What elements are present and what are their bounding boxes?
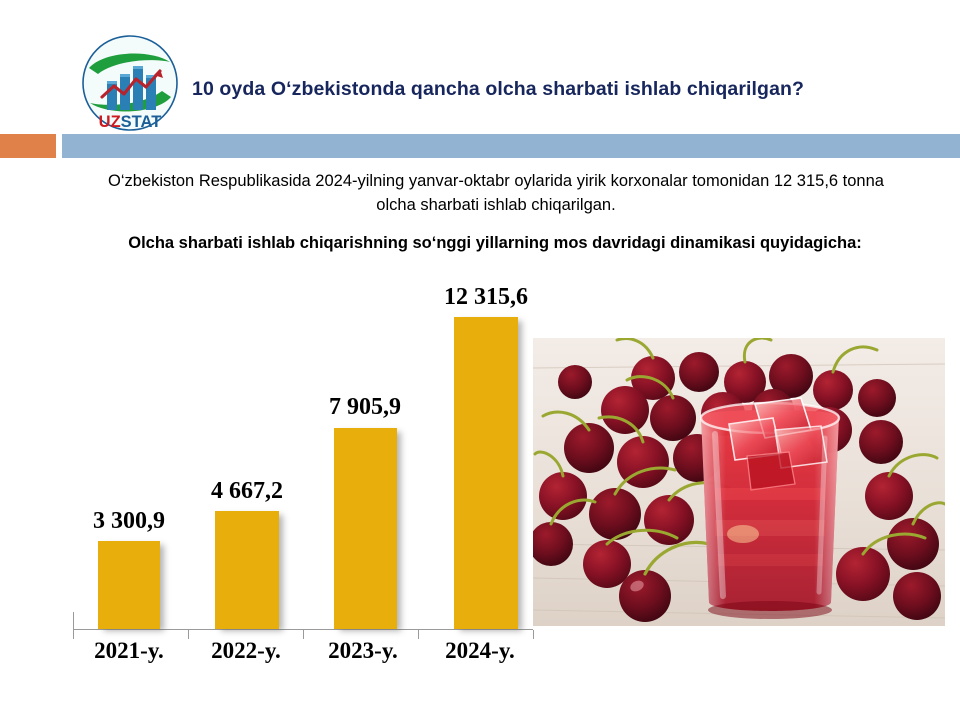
cherry-juice-illustration — [533, 338, 945, 626]
bar-value-2022: 4 667,2 — [187, 478, 307, 505]
category-label-2022: 2022-y. — [186, 638, 306, 664]
chart-y-axis — [73, 612, 74, 630]
bar-2024 — [454, 317, 518, 629]
category-label-2024: 2024-y. — [420, 638, 540, 664]
bar-value-2021: 3 300,9 — [69, 508, 189, 535]
category-label-2023: 2023-y. — [303, 638, 423, 664]
bar-2021 — [98, 541, 160, 629]
bar-2022 — [215, 511, 279, 629]
category-label-2021: 2021-y. — [69, 638, 189, 664]
uzstat-logo: UZSTAT — [76, 31, 184, 139]
uzstat-logo-icon: UZSTAT — [76, 31, 184, 139]
page-title: 10 oyda O‘zbekistonda qancha olcha sharb… — [192, 78, 948, 101]
divider-bar — [62, 134, 960, 158]
chart-subtitle: Olcha sharbati ishlab chiqarishning so‘n… — [120, 232, 870, 256]
bar-value-2024: 12 315,6 — [426, 284, 546, 311]
cherry-juice-photo — [533, 338, 945, 626]
divider-accent-block — [0, 134, 56, 158]
svg-text:UZSTAT: UZSTAT — [99, 113, 162, 131]
infographic-page: UZSTAT 10 oyda O‘zbekistonda qancha olch… — [0, 0, 960, 720]
header: UZSTAT 10 oyda O‘zbekistonda qancha olch… — [0, 0, 960, 130]
intro-paragraph: O‘zbekiston Respublikasida 2024-yilning … — [96, 170, 896, 218]
bar-value-2023: 7 905,9 — [305, 394, 425, 421]
bar-2023 — [334, 428, 397, 629]
